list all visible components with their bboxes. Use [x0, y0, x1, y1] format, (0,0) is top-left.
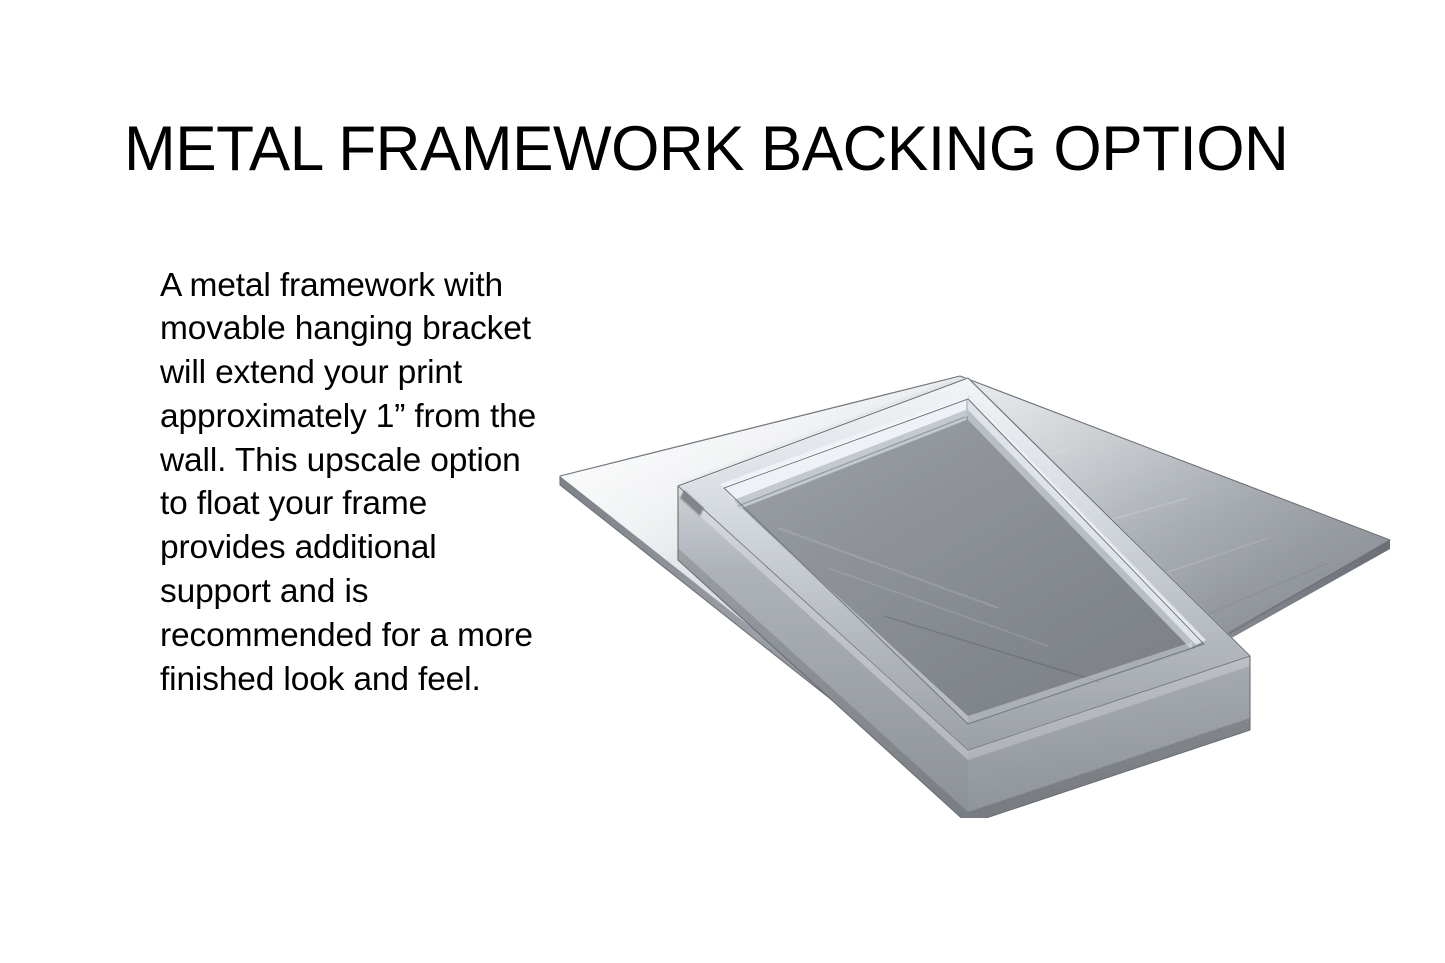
product-photo [528, 358, 1418, 818]
slide-canvas: METAL FRAMEWORK BACKING OPTION A metal f… [0, 0, 1445, 963]
body-paragraph: A metal framework with movable hanging b… [160, 264, 540, 702]
metal-framework-illustration [528, 358, 1418, 818]
page-title: METAL FRAMEWORK BACKING OPTION [124, 114, 1306, 184]
